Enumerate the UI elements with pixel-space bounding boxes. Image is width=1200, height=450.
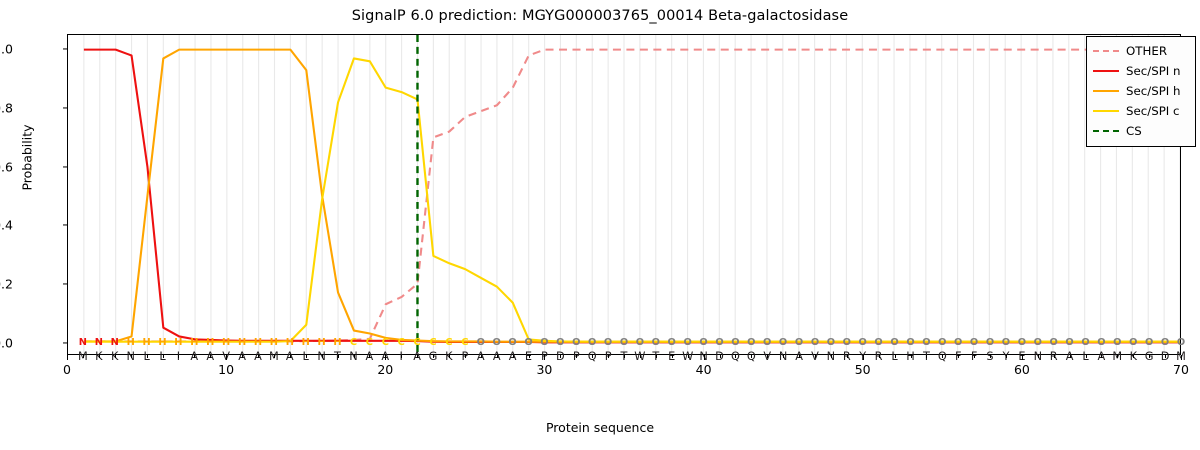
x-tick-minor-mark — [1006, 355, 1007, 358]
region-label: O — [998, 337, 1014, 348]
x-tick-mark — [385, 355, 386, 360]
x-tick-label: 20 — [345, 362, 425, 377]
region-label: H — [250, 337, 266, 348]
region-label: O — [600, 337, 616, 348]
x-tick-minor-mark — [465, 355, 466, 358]
region-label: O — [918, 337, 934, 348]
x-tick-minor-mark — [640, 355, 641, 358]
region-label: O — [1014, 337, 1030, 348]
x-tick-mark — [67, 355, 68, 360]
x-tick-minor-mark — [322, 355, 323, 358]
x-tick-minor-mark — [513, 355, 514, 358]
x-tick-minor-mark — [242, 355, 243, 358]
legend-item-sec-spi-h[interactable]: Sec/SPI h — [1093, 81, 1189, 101]
x-tick-minor-mark — [1070, 355, 1071, 358]
y-tick-label: 0.2 — [0, 277, 13, 292]
x-tick-minor-mark — [720, 355, 721, 358]
y-tick-label: 0.4 — [0, 218, 13, 233]
region-label: O — [521, 337, 537, 348]
region-label: O — [1109, 337, 1125, 348]
x-tick-minor-mark — [911, 355, 912, 358]
legend-label: Sec/SPI n — [1126, 64, 1181, 78]
y-axis-label: Probability — [20, 28, 35, 288]
region-label: H — [218, 337, 234, 348]
region-label: O — [839, 337, 855, 348]
legend-label: Sec/SPI h — [1126, 84, 1181, 98]
region-label: H — [155, 337, 171, 348]
x-tick-minor-mark — [895, 355, 896, 358]
x-tick-label: 60 — [982, 362, 1062, 377]
x-tick-label: 70 — [1141, 362, 1200, 377]
x-tick-minor-mark — [1165, 355, 1166, 358]
x-tick-minor-mark — [497, 355, 498, 358]
y-tick-label: 0.6 — [0, 159, 13, 174]
signalp-prediction-figure: SignalP 6.0 prediction: MGYG000003765_00… — [0, 0, 1200, 450]
region-label: N — [75, 337, 91, 348]
legend-item-sec-spi-c[interactable]: Sec/SPI c — [1093, 101, 1189, 121]
region-label: O — [807, 337, 823, 348]
region-label: H — [170, 337, 186, 348]
region-label: O — [759, 337, 775, 348]
region-label: O — [1078, 337, 1094, 348]
x-tick-minor-mark — [624, 355, 625, 358]
region-label: O — [536, 337, 552, 348]
x-tick-minor-mark — [529, 355, 530, 358]
region-label: H — [186, 337, 202, 348]
x-tick-label: 50 — [823, 362, 903, 377]
x-tick-minor-mark — [401, 355, 402, 358]
x-tick-label: 0 — [27, 362, 107, 377]
region-label: H — [202, 337, 218, 348]
x-tick-minor-mark — [210, 355, 211, 358]
x-tick-minor-mark — [147, 355, 148, 358]
page-title: SignalP 6.0 prediction: MGYG000003765_00… — [0, 8, 1200, 24]
x-tick-minor-mark — [847, 355, 848, 358]
region-label: O — [552, 337, 568, 348]
x-tick-minor-mark — [656, 355, 657, 358]
region-label: O — [743, 337, 759, 348]
x-tick-minor-mark — [799, 355, 800, 358]
x-axis-label: Protein sequence — [0, 420, 1200, 435]
legend-swatch — [1093, 85, 1119, 97]
x-tick-minor-mark — [672, 355, 673, 358]
region-label: H — [282, 337, 298, 348]
region-label: C — [441, 337, 457, 348]
curve-lines — [68, 35, 1180, 354]
x-tick-minor-mark — [178, 355, 179, 358]
region-label: O — [934, 337, 950, 348]
x-tick-minor-mark — [417, 355, 418, 358]
legend-item-sec-spi-n[interactable]: Sec/SPI n — [1093, 61, 1189, 81]
region-label: O — [1141, 337, 1157, 348]
region-label: O — [632, 337, 648, 348]
x-tick-mark — [1181, 355, 1182, 360]
x-tick-minor-mark — [576, 355, 577, 358]
series-other — [84, 50, 1180, 342]
x-tick-minor-mark — [1054, 355, 1055, 358]
region-label: O — [473, 337, 489, 348]
region-label: N — [107, 337, 123, 348]
x-tick-minor-mark — [131, 355, 132, 358]
region-label: O — [680, 337, 696, 348]
x-tick-minor-mark — [926, 355, 927, 358]
region-label: C — [457, 337, 473, 348]
x-tick-minor-mark — [815, 355, 816, 358]
x-tick-minor-mark — [751, 355, 752, 358]
region-label: O — [775, 337, 791, 348]
region-label: H — [314, 337, 330, 348]
region-label: H — [234, 337, 250, 348]
series-sec-spi-n — [84, 50, 1180, 343]
legend-swatch — [1093, 65, 1119, 77]
region-label: O — [823, 337, 839, 348]
region-label: H — [123, 337, 139, 348]
x-tick-minor-mark — [115, 355, 116, 358]
region-label: O — [1046, 337, 1062, 348]
x-tick-label: 30 — [504, 362, 584, 377]
region-label: O — [568, 337, 584, 348]
legend-item-other[interactable]: OTHER — [1093, 41, 1189, 61]
x-tick-minor-mark — [354, 355, 355, 358]
region-label: O — [1125, 337, 1141, 348]
legend-label: Sec/SPI c — [1126, 104, 1180, 118]
x-tick-minor-mark — [1149, 355, 1150, 358]
series-sec-spi-h — [84, 50, 1180, 342]
x-tick-minor-mark — [831, 355, 832, 358]
series-sec-spi-c — [84, 58, 1180, 341]
x-tick-mark — [863, 355, 864, 360]
x-tick-minor-mark — [99, 355, 100, 358]
x-tick-minor-mark — [767, 355, 768, 358]
region-label: O — [855, 337, 871, 348]
legend-label: OTHER — [1126, 44, 1167, 58]
x-tick-minor-mark — [1101, 355, 1102, 358]
x-tick-mark — [1022, 355, 1023, 360]
x-tick-minor-mark — [290, 355, 291, 358]
x-tick-minor-mark — [688, 355, 689, 358]
region-label: O — [982, 337, 998, 348]
x-tick-minor-mark — [974, 355, 975, 358]
x-tick-minor-mark — [879, 355, 880, 358]
x-tick-minor-mark — [258, 355, 259, 358]
legend-item-cs[interactable]: CS — [1093, 121, 1189, 141]
region-label: O — [584, 337, 600, 348]
region-label: H — [139, 337, 155, 348]
region-label: C — [361, 337, 377, 348]
legend-label: CS — [1126, 124, 1142, 138]
x-tick-mark — [544, 355, 545, 360]
x-tick-minor-mark — [481, 355, 482, 358]
region-label: N — [91, 337, 107, 348]
region-label: O — [871, 337, 887, 348]
x-tick-minor-mark — [83, 355, 84, 358]
legend-swatch — [1093, 45, 1119, 57]
legend[interactable]: OTHERSec/SPI nSec/SPI hSec/SPI cCS — [1086, 36, 1196, 147]
x-tick-minor-mark — [1086, 355, 1087, 358]
x-tick-minor-mark — [608, 355, 609, 358]
region-label: C — [346, 337, 362, 348]
legend-swatch — [1093, 125, 1119, 137]
region-label: O — [648, 337, 664, 348]
legend-swatch — [1093, 105, 1119, 117]
region-label: O — [505, 337, 521, 348]
region-label: O — [664, 337, 680, 348]
region-label: O — [712, 337, 728, 348]
region-label: O — [616, 337, 632, 348]
region-label: O — [1093, 337, 1109, 348]
region-label: C — [425, 337, 441, 348]
x-tick-minor-mark — [1038, 355, 1039, 358]
y-tick-label: 1.0 — [0, 41, 13, 56]
region-label: O — [696, 337, 712, 348]
x-tick-minor-mark — [163, 355, 164, 358]
x-tick-mark — [226, 355, 227, 360]
x-tick-label: 10 — [186, 362, 266, 377]
region-label: O — [727, 337, 743, 348]
region-label: O — [950, 337, 966, 348]
region-label: O — [1157, 337, 1173, 348]
x-tick-mark — [704, 355, 705, 360]
x-tick-minor-mark — [1133, 355, 1134, 358]
x-tick-minor-mark — [592, 355, 593, 358]
x-tick-minor-mark — [274, 355, 275, 358]
x-tick-minor-mark — [369, 355, 370, 358]
x-tick-minor-mark — [783, 355, 784, 358]
x-tick-minor-mark — [194, 355, 195, 358]
region-label: O — [903, 337, 919, 348]
x-tick-minor-mark — [560, 355, 561, 358]
x-tick-minor-mark — [958, 355, 959, 358]
x-tick-label: 40 — [664, 362, 744, 377]
x-tick-minor-mark — [449, 355, 450, 358]
x-tick-minor-mark — [338, 355, 339, 358]
region-label: H — [330, 337, 346, 348]
x-tick-minor-mark — [433, 355, 434, 358]
region-label: O — [489, 337, 505, 348]
x-tick-minor-mark — [1117, 355, 1118, 358]
region-label: O — [966, 337, 982, 348]
region-label: H — [298, 337, 314, 348]
y-tick-label: 0.8 — [0, 100, 13, 115]
region-label: H — [266, 337, 282, 348]
x-tick-minor-mark — [942, 355, 943, 358]
region-label: C — [409, 337, 425, 348]
x-tick-minor-mark — [306, 355, 307, 358]
region-label: O — [887, 337, 903, 348]
region-label: O — [1030, 337, 1046, 348]
region-label: O — [1062, 337, 1078, 348]
x-tick-minor-mark — [735, 355, 736, 358]
region-label: O — [1173, 337, 1189, 348]
region-label: O — [791, 337, 807, 348]
region-label: C — [377, 337, 393, 348]
region-label: C — [393, 337, 409, 348]
plot-area — [67, 34, 1181, 355]
x-tick-minor-mark — [990, 355, 991, 358]
